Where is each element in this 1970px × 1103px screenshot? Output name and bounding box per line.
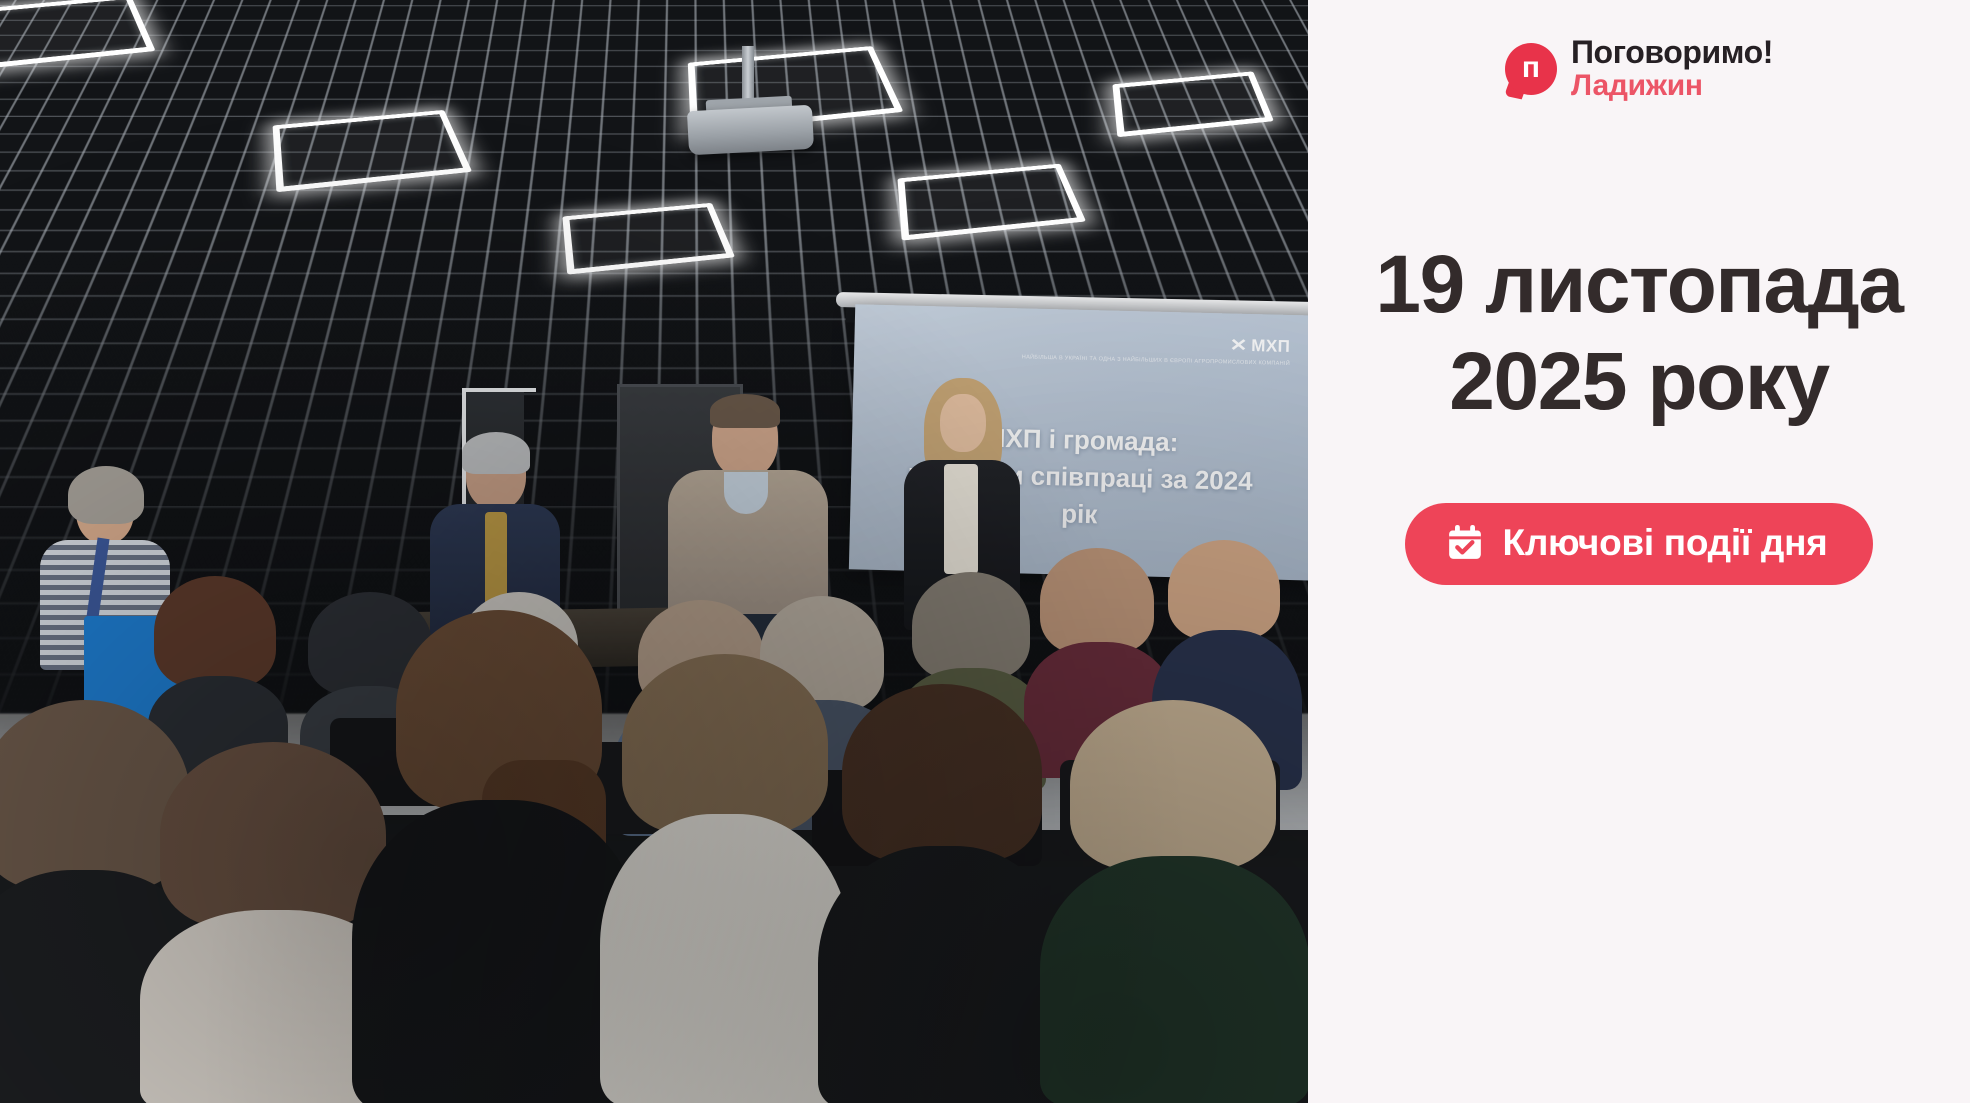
promo-card: ✕МХП НАЙБІЛЬША В УКРАЇНІ ТА ОДНА З НАЙБІ…	[0, 0, 1970, 1103]
key-events-button[interactable]: Ключові події дня	[1405, 503, 1874, 585]
brand-name-primary: Поговоримо!	[1571, 36, 1773, 69]
audience-member-front	[1040, 700, 1308, 1103]
info-panel: п Поговоримо! Ладижин 19 листопада 2025 …	[1308, 0, 1970, 1103]
person-head	[1168, 540, 1280, 640]
key-events-button-label: Ключові події дня	[1503, 522, 1828, 564]
person-torso	[352, 800, 642, 1103]
brand-lockup[interactable]: п Поговоримо! Ладижин	[1505, 36, 1773, 101]
date-headline-line1: 19 листопада	[1339, 237, 1939, 334]
person-hair	[68, 466, 144, 524]
person-torso	[600, 814, 850, 1103]
person-blouse	[944, 464, 978, 574]
projector-icon	[687, 105, 814, 155]
event-photo: ✕МХП НАЙБІЛЬША В УКРАЇНІ ТА ОДНА З НАЙБІ…	[0, 0, 1308, 1103]
person-head	[842, 684, 1042, 862]
person-head	[154, 576, 276, 688]
person-head	[1040, 548, 1154, 654]
brand-name-secondary: Ладижин	[1571, 71, 1773, 102]
person-head	[622, 654, 828, 834]
person-head	[912, 572, 1030, 680]
audience-member-front	[600, 654, 850, 1103]
mxp-mark-icon: ✕	[1229, 335, 1248, 355]
person-torso	[1040, 856, 1308, 1103]
slide-brand-subtitle: НАЙБІЛЬША В УКРАЇНІ ТА ОДНА З НАЙБІЛЬШИХ…	[1022, 353, 1290, 368]
person-hair	[710, 394, 780, 428]
calendar-check-icon	[1445, 523, 1485, 563]
audience-member-front	[818, 684, 1068, 1103]
brand-letter: п	[1505, 43, 1557, 95]
person-head	[1070, 700, 1276, 870]
brand-wordmark: Поговоримо! Ладижин	[1571, 36, 1773, 101]
date-headline-line2: 2025 року	[1339, 334, 1939, 431]
audience-member-front	[352, 610, 642, 1103]
slide-brand-name: МХП	[1251, 336, 1291, 356]
slide-brand-logo: ✕МХП НАЙБІЛЬША В УКРАЇНІ ТА ОДНА З НАЙБІ…	[1022, 330, 1291, 368]
person-hair	[462, 432, 530, 474]
person-face	[940, 394, 986, 452]
speech-bubble-icon: п	[1505, 43, 1557, 95]
person-torso	[818, 846, 1068, 1103]
person-shirt-collar	[724, 472, 768, 514]
date-headline: 19 листопада 2025 року	[1339, 237, 1939, 431]
